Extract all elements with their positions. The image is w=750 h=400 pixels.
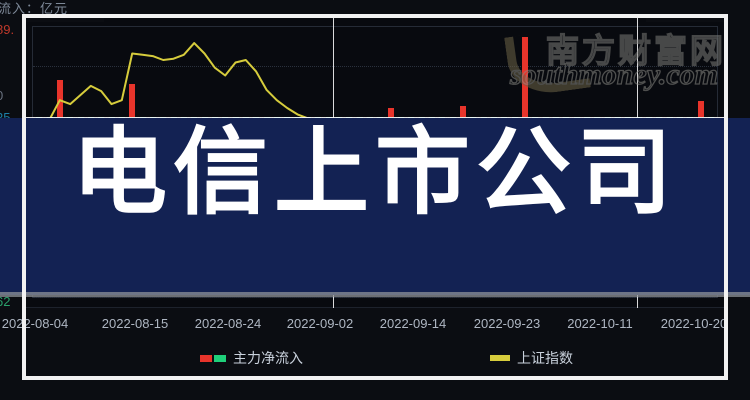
x-axis-tick-4: 2022-09-14 [380,316,447,331]
chart-legend: 主力净流入上证指数 [0,346,750,372]
screenshot-root: 流入：亿元 89.02564462 2022-08-042022-08-1520… [0,0,750,400]
legend-swatch-index [490,355,510,361]
legend-swatch-positive [200,355,212,362]
x-axis-tick-5: 2022-09-23 [474,316,541,331]
legend-swatch-negative [214,355,226,362]
overlay-title-text: 电信上市公司 [0,126,750,221]
x-axis-tick-1: 2022-08-15 [102,316,169,331]
legend-item-1[interactable]: 上证指数 [490,348,573,368]
x-axis-tick-0: 2022-08-04 [2,316,69,331]
legend-item-0[interactable]: 主力净流入 [200,348,303,368]
x-axis-tick-7: 2022-10-20 [661,316,728,331]
x-axis-tick-3: 2022-09-02 [287,316,354,331]
title-overlay-bottom-edge [0,292,750,297]
legend-swatch-net-inflow [200,355,226,362]
x-axis-tick-2: 2022-08-24 [195,316,262,331]
legend-label-0: 主力净流入 [233,348,303,368]
legend-label-1: 上证指数 [517,348,573,368]
x-axis-tick-6: 2022-10-11 [567,316,633,331]
